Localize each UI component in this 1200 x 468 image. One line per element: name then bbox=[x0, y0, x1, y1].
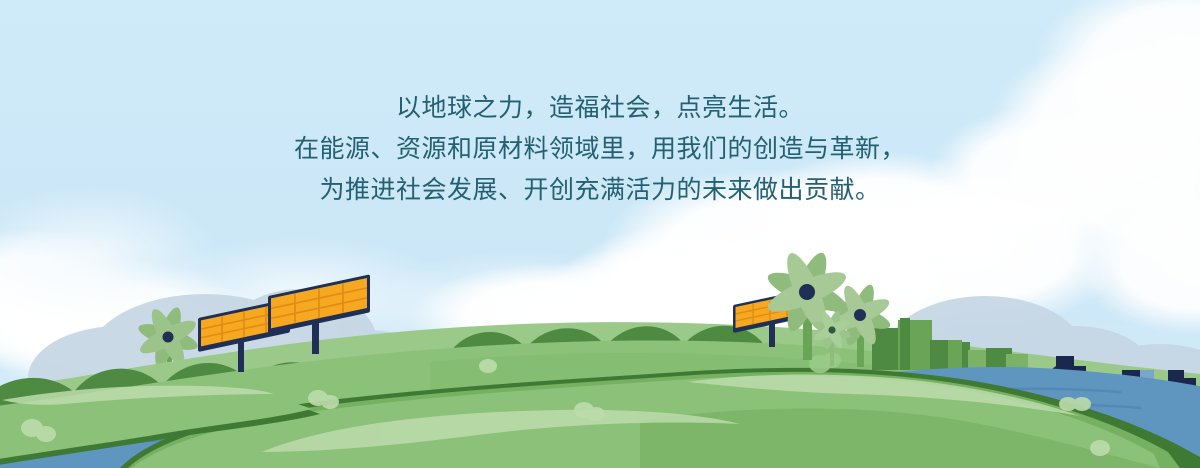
green-building-3 bbox=[900, 318, 910, 370]
green-building-1 bbox=[872, 328, 902, 370]
landscape-illustration bbox=[0, 0, 1200, 468]
eco-banner: 以地球之力，造福社会，点亮生活。 在能源、资源和原材料领域里，用我们的创造与革新… bbox=[0, 0, 1200, 468]
